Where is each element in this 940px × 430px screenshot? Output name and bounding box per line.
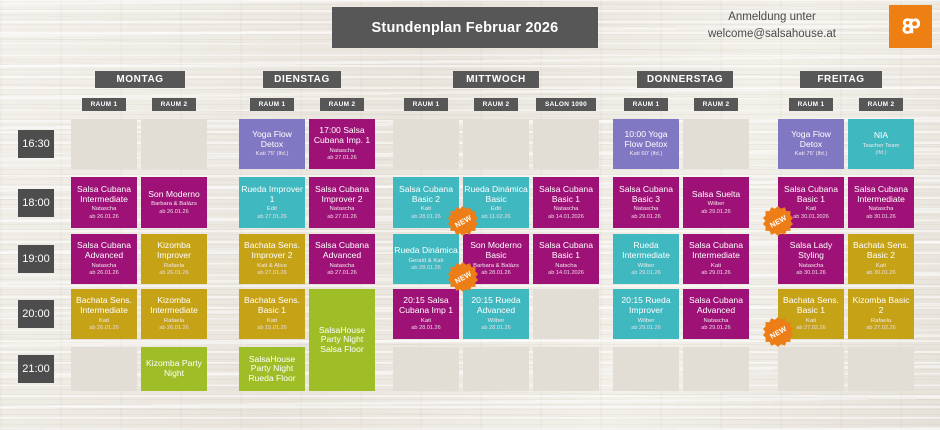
- class-card-salsa-lady-styling[interactable]: Salsa LadyStylingNataschaab 30.01.26: [778, 234, 844, 284]
- class-teacher: Natascha: [330, 263, 355, 270]
- class-teacher: Natascha: [92, 263, 117, 270]
- class-teacher: Kati: [421, 206, 431, 213]
- class-card-salsa-cubana-advanced[interactable]: Salsa CubanaAdvancedNataschaab 27.01.26: [309, 234, 375, 284]
- class-title-line: Improver 2: [321, 195, 362, 205]
- class-title-line: Intermediate: [80, 195, 128, 205]
- class-title-line: Detox: [800, 140, 822, 150]
- class-teacher: Wilber: [638, 263, 655, 270]
- class-card-salsa-cubana-intermediate[interactable]: Salsa CubanaIntermediateKatiab 29.01.26: [683, 234, 749, 284]
- class-teacher: Kati 75' (lfd.): [256, 151, 289, 158]
- class-start-date: ab 29.01.26: [631, 214, 661, 220]
- class-teacher: Natscha: [555, 263, 577, 270]
- class-title-line: 2: [879, 306, 884, 316]
- class-title-line: Basic: [485, 195, 506, 205]
- class-teacher: Natascha: [330, 206, 355, 213]
- room-header-mittwoch-raum-1: RAUM 1: [404, 98, 448, 111]
- class-teacher: Natascha: [869, 206, 894, 213]
- class-card-yoga-flow-detox[interactable]: Yoga FlowDetoxKati 75' (lfd.): [778, 119, 844, 169]
- empty-slot-mittwoch-raum-1-16-30: [393, 119, 459, 169]
- room-header-montag-raum-2: RAUM 2: [152, 98, 196, 111]
- class-start-date: ab 27.01.26: [327, 155, 357, 161]
- class-card-bachata-sens-intermediate[interactable]: Bachata Sens.IntermediateKatiab 26.01.26: [71, 289, 137, 339]
- room-header-montag-raum-1: RAUM 1: [82, 98, 126, 111]
- class-title-line: Intermediate: [857, 195, 905, 205]
- class-title-line: Night: [164, 369, 184, 379]
- class-start-date: ab 27.01.26: [257, 270, 287, 276]
- class-title-line: Basic 2: [867, 251, 895, 261]
- class-start-date: ab 28.01.26: [481, 325, 511, 331]
- class-card-rueda-intermediate[interactable]: RuedaIntermediateWilberab 29.01.26: [613, 234, 679, 284]
- class-title-line: Intermediate: [150, 306, 198, 316]
- class-title-line: Intermediate: [692, 251, 740, 261]
- empty-slot-freitag-raum-1-21-00: [778, 347, 844, 391]
- class-start-date: ab 28.01.26: [481, 270, 511, 276]
- class-card-salsa-cubana-basic-1[interactable]: Salsa CubanaBasic 1Natschaab 14.01.2026: [533, 234, 599, 284]
- class-title-line: Styling: [798, 251, 824, 261]
- class-title-line: Son Moderno: [148, 190, 200, 200]
- class-teacher: Natascha: [704, 318, 729, 325]
- class-card-kizomba-party-night[interactable]: Kizomba PartyNight: [141, 347, 207, 391]
- empty-slot-mittwoch-raum-2-21-00: [463, 347, 529, 391]
- class-card-salsa-cubana-improver-2[interactable]: Salsa CubanaImprover 2Nataschaab 27.01.2…: [309, 177, 375, 228]
- class-teacher: Barbara & Balázs: [473, 263, 519, 270]
- class-start-date: (lfd.): [875, 150, 886, 156]
- class-title-line: Detox: [261, 140, 283, 150]
- class-start-date: ab 14.01.2026: [548, 214, 584, 220]
- class-card-salsahouse-party-night-salsa-floor[interactable]: SalsaHouseParty NightSalsa Floor: [309, 289, 375, 391]
- class-teacher: Kati: [806, 318, 816, 325]
- day-header-montag: MONTAG: [95, 71, 185, 88]
- empty-slot-mittwoch-salon-1090-21-00: [533, 347, 599, 391]
- class-card-bachata-sens-basic-1[interactable]: Bachata Sens.Basic 1Katiab 15.01.26: [239, 289, 305, 339]
- contact-line-1: Anmeldung unter: [682, 9, 862, 26]
- class-card-salsa-cubana-intermediate[interactable]: Salsa CubanaIntermediateNataschaab 26.01…: [71, 177, 137, 228]
- class-card-kizomba-intermediate[interactable]: KizombaIntermediateRafaelaab 26.01.26: [141, 289, 207, 339]
- class-start-date: ab 29.01.26: [631, 270, 661, 276]
- room-header-dienstag-raum-2: RAUM 2: [320, 98, 364, 111]
- class-start-date: ab 28.01.26: [411, 265, 441, 271]
- empty-slot-mittwoch-raum-2-16-30: [463, 119, 529, 169]
- class-card-10-00-yoga-flow-detox[interactable]: 10:00 YogaFlow DetoxKati 60' (lfd.): [613, 119, 679, 169]
- class-title-line: Rueda Floor: [248, 374, 295, 384]
- class-start-date: ab 30.01.26: [866, 214, 896, 220]
- class-teacher: Kati: [99, 318, 109, 325]
- class-teacher: Wilber: [638, 318, 655, 325]
- class-title-line: Basic 1: [797, 195, 825, 205]
- class-teacher: Natascha: [634, 206, 659, 213]
- empty-slot-mittwoch-salon-1090-20-00: [533, 289, 599, 339]
- class-card-20-15-rueda-advanced[interactable]: 20:15 RuedaAdvancedWilberab 28.01.26: [463, 289, 529, 339]
- class-teacher: Kati 75' (lfd.): [795, 151, 828, 158]
- room-header-donnerstag-raum-1: RAUM 1: [624, 98, 668, 111]
- class-title-line: Basic 1: [552, 195, 580, 205]
- class-start-date: ab 15.01.26: [257, 325, 287, 331]
- empty-slot-montag-raum-1-21-00: [71, 347, 137, 391]
- class-title-line: 1: [270, 195, 275, 205]
- class-title-line: Basic: [485, 251, 506, 261]
- empty-slot-donnerstag-raum-2-16-30: [683, 119, 749, 169]
- time-label-19-00: 19:00: [18, 245, 54, 273]
- empty-slot-mittwoch-salon-1090-16-30: [533, 119, 599, 169]
- class-start-date: ab 28.01.26: [411, 325, 441, 331]
- class-title-line: Basic 1: [552, 251, 580, 261]
- class-start-date: ab 26.01.26: [159, 209, 189, 215]
- room-header-freitag-raum-2: RAUM 2: [859, 98, 903, 111]
- class-teacher: Kati 60' (lfd.): [630, 151, 663, 158]
- class-title-line: Improver: [157, 251, 191, 261]
- class-start-date: ab 27.01.26: [327, 214, 357, 220]
- page-title-bar: Stundenplan Februar 2026: [332, 7, 598, 48]
- empty-slot-freitag-raum-2-21-00: [848, 347, 914, 391]
- time-label-20-00: 20:00: [18, 300, 54, 328]
- class-start-date: ab 28.01.26: [411, 214, 441, 220]
- time-label-18-00: 18:00: [18, 189, 54, 217]
- time-label-21-00: 21:00: [18, 355, 54, 383]
- class-card-17-00-salsa-cubana-imp-1[interactable]: 17:00 SalsaCubana Imp. 1Nataschaab 27.01…: [309, 119, 375, 169]
- class-title-line: Intermediate: [622, 251, 670, 261]
- class-teacher: Natascha: [92, 206, 117, 213]
- class-teacher: Barbara & Balázs: [151, 201, 197, 208]
- class-teacher: Edit: [491, 206, 501, 213]
- class-teacher: Rafaela: [164, 318, 184, 325]
- class-start-date: ab 29.01.26: [631, 325, 661, 331]
- class-start-date: ab 27.02.26: [866, 325, 896, 331]
- class-start-date: ab 30.01.26: [796, 270, 826, 276]
- class-card-salsa-cubana-basic-1[interactable]: Salsa CubanaBasic 1Katiab 30.01.2026: [778, 177, 844, 228]
- class-title-line: Advanced: [323, 251, 361, 261]
- room-header-mittwoch-salon-1090: SALON 1090: [536, 98, 596, 111]
- class-start-date: ab 29.01.26: [701, 209, 731, 215]
- day-header-donnerstag: DONNERSTAG: [637, 71, 733, 88]
- time-label-16-30: 16:30: [18, 130, 54, 158]
- class-teacher: Wilber: [708, 201, 725, 208]
- class-teacher: Kati: [711, 263, 721, 270]
- empty-slot-donnerstag-raum-2-21-00: [683, 347, 749, 391]
- class-start-date: ab 27.02.26: [796, 325, 826, 331]
- logo-icon: [898, 14, 924, 40]
- class-teacher: Natascha: [799, 263, 824, 270]
- class-title-line: Cubana Imp 1: [399, 306, 453, 316]
- class-start-date: ab 27.01.26: [327, 270, 357, 276]
- class-card-20-15-salsa-cubana-imp-1[interactable]: 20:15 SalsaCubana Imp 1Katiab 28.01.26: [393, 289, 459, 339]
- class-start-date: ab 26.01.26: [89, 325, 119, 331]
- class-card-kizomba-basic-2[interactable]: Kizomba Basic2Rafaelaab 27.02.26: [848, 289, 914, 339]
- class-card-yoga-flow-detox[interactable]: Yoga FlowDetoxKati 75' (lfd.): [239, 119, 305, 169]
- class-card-rueda-din-mica-basic[interactable]: Rueda DinámicaBasicEditab 11.02.26: [463, 177, 529, 228]
- class-teacher: Kati: [421, 318, 431, 325]
- class-teacher: Kati: [267, 318, 277, 325]
- salsahouse-logo: [889, 5, 932, 48]
- class-title-line: Cubana Imp. 1: [314, 136, 370, 146]
- class-title-line: Salsa Floor: [320, 345, 363, 355]
- class-card-salsa-cubana-basic-1[interactable]: Salsa CubanaBasic 1Nataschaab 14.01.2026: [533, 177, 599, 228]
- class-card-rueda-din-mica[interactable]: Rueda DinámicaGerald & Katiab 28.01.26: [393, 234, 459, 284]
- class-teacher: Rafaela: [164, 263, 184, 270]
- class-start-date: ab 26.01.26: [89, 214, 119, 220]
- class-title-line: Basic 1: [797, 306, 825, 316]
- class-card-son-moderno-basic[interactable]: Son ModernoBasicBarbara & Balázsab 28.01…: [463, 234, 529, 284]
- class-card-bachata-sens-improver-2[interactable]: Bachata Sens.Improver 2Kati & Aliceab 27…: [239, 234, 305, 284]
- class-teacher: Kati: [876, 263, 886, 270]
- class-card-20-15-rueda-improver[interactable]: 20:15 RuedaImproverWilberab 29.01.26: [613, 289, 679, 339]
- class-teacher: Natascha: [330, 148, 355, 155]
- empty-slot-montag-raum-2-16-30: [141, 119, 207, 169]
- class-card-salsa-cubana-advanced[interactable]: Salsa CubanaAdvancedNataschaab 26.01.26: [71, 234, 137, 284]
- class-start-date: ab 26.01.26: [89, 270, 119, 276]
- class-start-date: ab 26.01.26: [159, 325, 189, 331]
- contact-info: Anmeldung unter welcome@salsahouse.at: [682, 9, 862, 42]
- class-teacher: Edit: [267, 206, 277, 213]
- class-start-date: ab 29.01.26: [701, 270, 731, 276]
- class-card-salsa-suelta[interactable]: Salsa SueltaWilberab 29.01.26: [683, 177, 749, 228]
- class-title-line: Basic 2: [412, 195, 440, 205]
- class-card-son-moderno[interactable]: Son ModernoBarbara & Balázsab 26.01.26: [141, 177, 207, 228]
- empty-slot-mittwoch-raum-1-21-00: [393, 347, 459, 391]
- class-start-date: ab 26.01.26: [159, 270, 189, 276]
- class-start-date: ab 11.02.26: [481, 214, 510, 220]
- class-title-line: Improver: [629, 306, 663, 316]
- page-title: Stundenplan Februar 2026: [372, 20, 559, 36]
- class-title-line: Basic 1: [258, 306, 286, 316]
- class-teacher: Teacher Team: [863, 143, 900, 150]
- class-title-line: Rueda Dinámica: [394, 246, 458, 256]
- class-start-date: ab 29.01.26: [701, 325, 731, 331]
- class-card-salsa-cubana-advanced[interactable]: Salsa CubanaAdvancedNataschaab 29.01.26: [683, 289, 749, 339]
- class-card-nia[interactable]: NIATeacher Team(lfd.): [848, 119, 914, 169]
- class-card-salsa-cubana-intermediate[interactable]: Salsa CubanaIntermediateNataschaab 30.01…: [848, 177, 914, 228]
- class-start-date: ab 30.01.2026: [793, 214, 829, 220]
- room-header-mittwoch-raum-2: RAUM 2: [474, 98, 518, 111]
- day-header-dienstag: DIENSTAG: [263, 71, 341, 88]
- class-card-salsahouse-party-night-rueda-floor[interactable]: SalsaHouseParty NightRueda Floor: [239, 347, 305, 391]
- class-title-line: Intermediate: [80, 306, 128, 316]
- class-teacher: Kati: [806, 206, 816, 213]
- class-title-line: Advanced: [697, 306, 735, 316]
- room-header-dienstag-raum-1: RAUM 1: [250, 98, 294, 111]
- class-teacher: Gerald & Kati: [408, 258, 443, 265]
- class-card-kizomba-improver[interactable]: KizombaImproverRafaelaab 26.01.26: [141, 234, 207, 284]
- class-title-line: Advanced: [477, 306, 515, 316]
- empty-slot-donnerstag-raum-1-21-00: [613, 347, 679, 391]
- class-card-salsa-cubana-basic-2[interactable]: Salsa CubanaBasic 2Katiab 28.01.26: [393, 177, 459, 228]
- day-header-freitag: FREITAG: [800, 71, 882, 88]
- class-title-line: Basic 3: [632, 195, 660, 205]
- class-start-date: ab 14.01.2026: [548, 270, 584, 276]
- contact-email: welcome@salsahouse.at: [682, 26, 862, 43]
- class-card-bachata-sens-basic-2[interactable]: Bachata Sens.Basic 2Katiab 30.01.26: [848, 234, 914, 284]
- class-teacher: Kati & Alice: [257, 263, 287, 270]
- empty-slot-montag-raum-1-16-30: [71, 119, 137, 169]
- class-teacher: Rafaela: [871, 318, 891, 325]
- class-title-line: Improver 2: [251, 251, 292, 261]
- class-title-line: Advanced: [85, 251, 123, 261]
- room-header-donnerstag-raum-2: RAUM 2: [694, 98, 738, 111]
- class-title-line: NIA: [874, 131, 888, 141]
- class-title-line: Flow Detox: [625, 140, 668, 150]
- class-card-bachata-sens-basic-1[interactable]: Bachata Sens.Basic 1Katiab 27.02.26: [778, 289, 844, 339]
- class-card-rueda-improver-1[interactable]: Rueda Improver1Editab 27.01.26: [239, 177, 305, 228]
- class-teacher: Natascha: [554, 206, 579, 213]
- room-header-freitag-raum-1: RAUM 1: [789, 98, 833, 111]
- class-title-line: Salsa Suelta: [692, 190, 740, 200]
- class-card-salsa-cubana-basic-3[interactable]: Salsa CubanaBasic 3Nataschaab 29.01.26: [613, 177, 679, 228]
- class-start-date: ab 27.01.26: [257, 214, 287, 220]
- class-teacher: Wilber: [488, 318, 505, 325]
- day-header-mittwoch: MITTWOCH: [453, 71, 539, 88]
- class-start-date: ab 30.01.26: [866, 270, 896, 276]
